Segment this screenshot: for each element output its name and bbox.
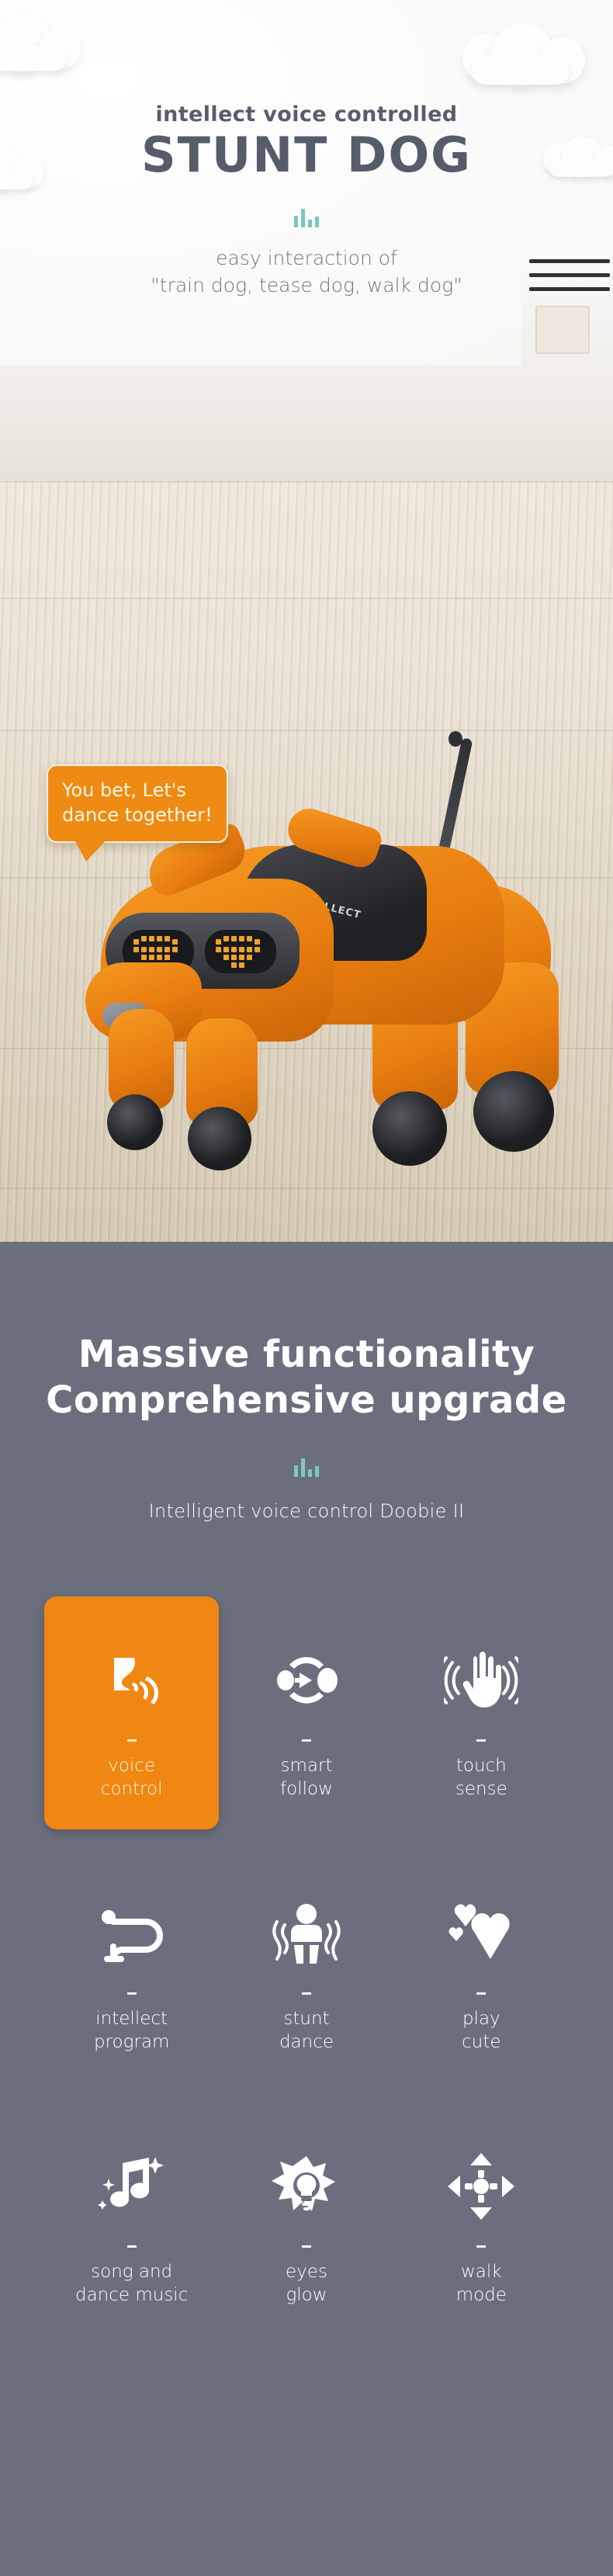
smart-follow-icon xyxy=(264,1643,349,1718)
feature-label-line1: intellect xyxy=(94,2007,169,2030)
features-section: Massive functionality Comprehensive upgr… xyxy=(0,1242,613,2576)
feature-card-eyes-glow[interactable]: eyes glow xyxy=(219,2103,393,2335)
feature-card-song-dance-music[interactable]: song and dance music xyxy=(44,2103,219,2335)
play-cute-icon xyxy=(438,1896,524,1971)
feature-card-walk-mode[interactable]: walk mode xyxy=(394,2103,569,2335)
feature-card-voice-control[interactable]: voice control xyxy=(44,1597,219,1829)
sound-bars-icon xyxy=(0,1457,613,1477)
feature-card-touch-sense[interactable]: touch sense xyxy=(394,1597,569,1829)
feature-label-line1: song and xyxy=(75,2260,188,2283)
feature-label: intellect program xyxy=(94,2007,169,2054)
stunt-dance-icon xyxy=(264,1896,349,1971)
divider-dash xyxy=(127,1739,137,1742)
feature-label: play cute xyxy=(462,2007,500,2054)
features-subtitle: Intelligent voice control Doobie II xyxy=(0,1500,613,1522)
hero-subtitle-line1: easy interaction of xyxy=(0,244,613,272)
feature-label: smart follow xyxy=(280,1754,333,1801)
divider-dash xyxy=(302,1992,311,1995)
divider-dash xyxy=(127,1992,137,1995)
feature-label-line2: dance xyxy=(279,2030,334,2054)
feature-label-line2: mode xyxy=(456,2283,507,2307)
touch-sense-icon xyxy=(438,1643,524,1718)
feature-label: voice control xyxy=(101,1754,163,1801)
hero-subtitle-line2: "train dog, tease dog, walk dog" xyxy=(0,272,613,300)
eyes-glow-icon xyxy=(264,2149,349,2224)
feature-grid: voice control smart follow xyxy=(44,1597,569,2335)
feature-label-line2: control xyxy=(101,1777,163,1801)
robot-speech-line2: dance together! xyxy=(62,803,213,828)
feature-label: stunt dance xyxy=(279,2007,334,2054)
feature-label-line2: glow xyxy=(286,2283,327,2307)
hero-section: intellect voice controlled STUNT DOG eas… xyxy=(0,0,613,365)
feature-label-line2: dance music xyxy=(75,2283,188,2307)
divider-dash xyxy=(302,1739,311,1742)
feature-label-line2: program xyxy=(94,2030,169,2054)
divider-dash xyxy=(302,2245,311,2248)
feature-card-play-cute[interactable]: play cute xyxy=(394,1850,569,2082)
hero-subtitle: easy interaction of "train dog, tease do… xyxy=(0,244,613,300)
feature-label-line1: voice xyxy=(101,1754,163,1777)
intellect-program-icon xyxy=(89,1896,175,1971)
feature-label-line1: walk xyxy=(456,2260,507,2283)
feature-label-line1: play xyxy=(462,2007,500,2030)
features-title-line2: Comprehensive upgrade xyxy=(0,1378,613,1423)
song-dance-music-icon xyxy=(89,2149,175,2224)
walk-mode-icon xyxy=(438,2149,524,2224)
features-title-line1: Massive functionality xyxy=(0,1332,613,1378)
voice-control-icon xyxy=(89,1643,175,1718)
feature-label: touch sense xyxy=(455,1754,507,1801)
feature-label: eyes glow xyxy=(286,2260,327,2307)
feature-label-line1: stunt xyxy=(279,2007,334,2030)
robot-speech-bubble: You bet, Let's dance together! xyxy=(47,764,228,843)
feature-label-line2: sense xyxy=(455,1777,507,1801)
feature-label-line1: touch xyxy=(455,1754,507,1777)
divider-dash xyxy=(476,2245,486,2248)
feature-label-line2: cute xyxy=(462,2030,500,2054)
page-title: STUNT DOG xyxy=(0,130,613,181)
divider-dash xyxy=(476,1992,486,1995)
hero-kicker: intellect voice controlled xyxy=(0,102,613,127)
feature-label: song and dance music xyxy=(75,2260,188,2307)
robot-eye-right xyxy=(205,930,276,973)
feature-label: walk mode xyxy=(456,2260,507,2307)
feature-label-line1: eyes xyxy=(286,2260,327,2283)
wall-background xyxy=(0,365,613,481)
product-photo-section: You bet, Let's dance together! INTELLECT xyxy=(0,365,613,1242)
feature-card-smart-follow[interactable]: smart follow xyxy=(219,1597,393,1829)
feature-card-intellect-program[interactable]: intellect program xyxy=(44,1850,219,2082)
feature-label-line1: smart xyxy=(280,1754,333,1777)
feature-card-stunt-dance[interactable]: stunt dance xyxy=(219,1850,393,2082)
divider-dash xyxy=(127,2245,137,2248)
feature-label-line2: follow xyxy=(280,1777,333,1801)
robot-speech-line1: You bet, Let's xyxy=(62,778,213,803)
divider-dash xyxy=(476,1739,486,1742)
sound-bars-icon xyxy=(0,207,613,227)
